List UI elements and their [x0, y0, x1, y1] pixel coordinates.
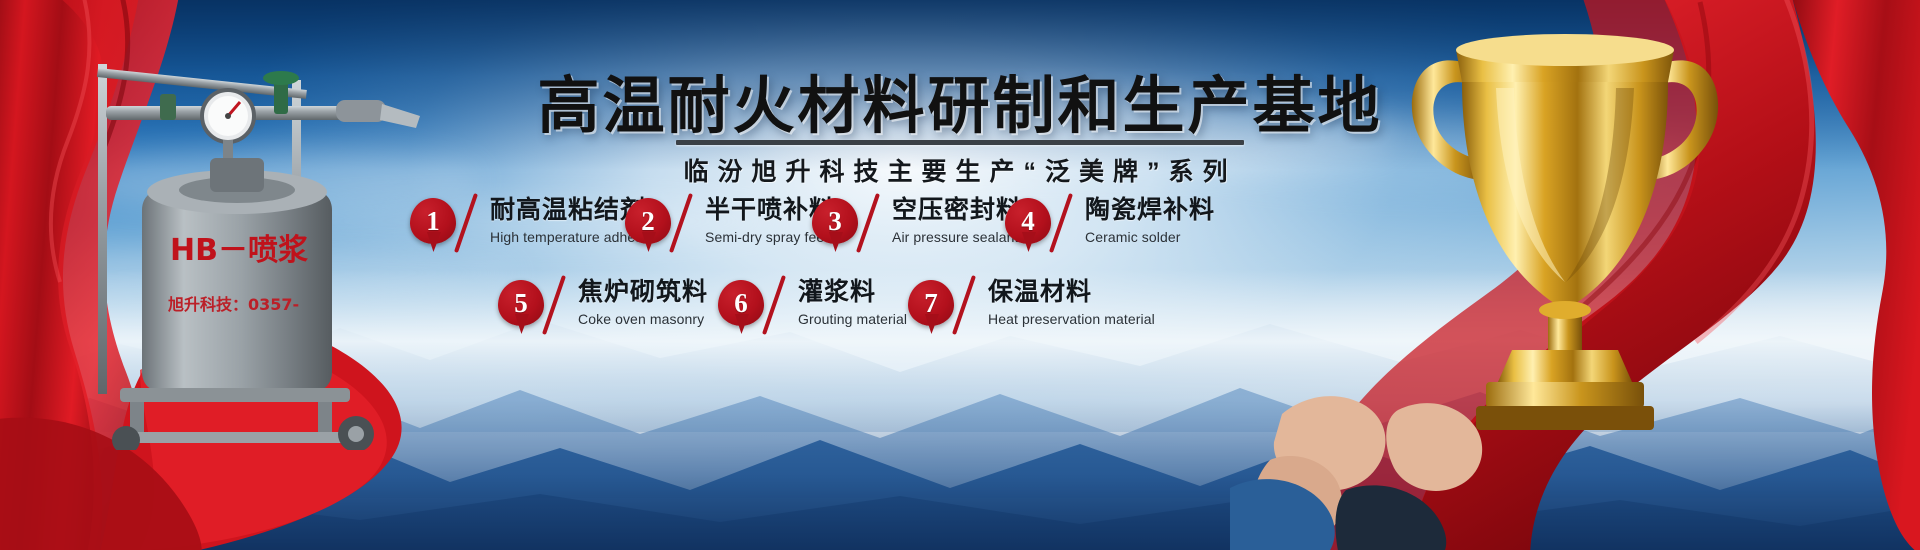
promotional-banner: HB－喷浆 旭升科技：0357-: [0, 0, 1920, 550]
number-badge-icon: 1: [410, 198, 456, 250]
badge-number: 6: [718, 280, 764, 326]
slash-icon: [762, 278, 792, 334]
banner-text-content: 高温耐火材料研制和生产基地 临汾旭升科技主要生产“泛美牌”系列 1 耐高温粘结剂…: [0, 0, 1920, 550]
slash-icon: [454, 196, 484, 252]
badge-number: 2: [625, 198, 671, 244]
page-subtitle: 临汾旭升科技主要生产“泛美牌”系列: [0, 152, 1920, 188]
product-name-en: Coke oven masonry: [578, 311, 708, 327]
number-badge-icon: 5: [498, 280, 544, 332]
product-name-en: Ceramic solder: [1085, 229, 1215, 245]
slash-icon: [856, 196, 886, 252]
number-badge-icon: 6: [718, 280, 764, 332]
number-badge-icon: 4: [1005, 198, 1051, 250]
page-title: 高温耐火材料研制和生产基地: [0, 55, 1920, 145]
number-badge-icon: 7: [908, 280, 954, 332]
product-item-4[interactable]: 4 陶瓷焊补料 Ceramic solder: [1005, 196, 1215, 252]
product-item-7[interactable]: 7 保温材料 Heat preservation material: [908, 278, 1155, 334]
number-badge-icon: 3: [812, 198, 858, 250]
product-item-6[interactable]: 6 灌浆料 Grouting material: [718, 278, 907, 334]
product-name-en: Heat preservation material: [988, 311, 1155, 327]
badge-number: 1: [410, 198, 456, 244]
badge-number: 4: [1005, 198, 1051, 244]
product-item-5[interactable]: 5 焦炉砌筑料 Coke oven masonry: [498, 278, 708, 334]
product-name-zh: 保温材料: [988, 279, 1155, 305]
product-name-zh: 空压密封料: [892, 197, 1022, 223]
product-name-zh: 陶瓷焊补料: [1085, 197, 1215, 223]
product-item-1[interactable]: 1 耐高温粘结剂 High temperature adhesive: [410, 196, 661, 252]
title-divider: [676, 140, 1244, 145]
product-row-1: 1 耐高温粘结剂 High temperature adhesive 2: [0, 196, 1920, 266]
badge-number: 7: [908, 280, 954, 326]
slash-icon: [669, 196, 699, 252]
number-badge-icon: 2: [625, 198, 671, 250]
product-name-zh: 灌浆料: [798, 279, 907, 305]
product-row-2: 5 焦炉砌筑料 Coke oven masonry 6 灌浆料: [0, 278, 1920, 348]
product-item-3[interactable]: 3 空压密封料 Air pressure sealant: [812, 196, 1022, 252]
slash-icon: [542, 278, 572, 334]
badge-number: 5: [498, 280, 544, 326]
product-name-en: Grouting material: [798, 311, 907, 327]
product-item-2[interactable]: 2 半干喷补料 Semi-dry spray feed: [625, 196, 835, 252]
slash-icon: [1049, 196, 1079, 252]
product-name-en: Air pressure sealant: [892, 229, 1022, 245]
product-name-zh: 焦炉砌筑料: [578, 279, 708, 305]
badge-number: 3: [812, 198, 858, 244]
slash-icon: [952, 278, 982, 334]
